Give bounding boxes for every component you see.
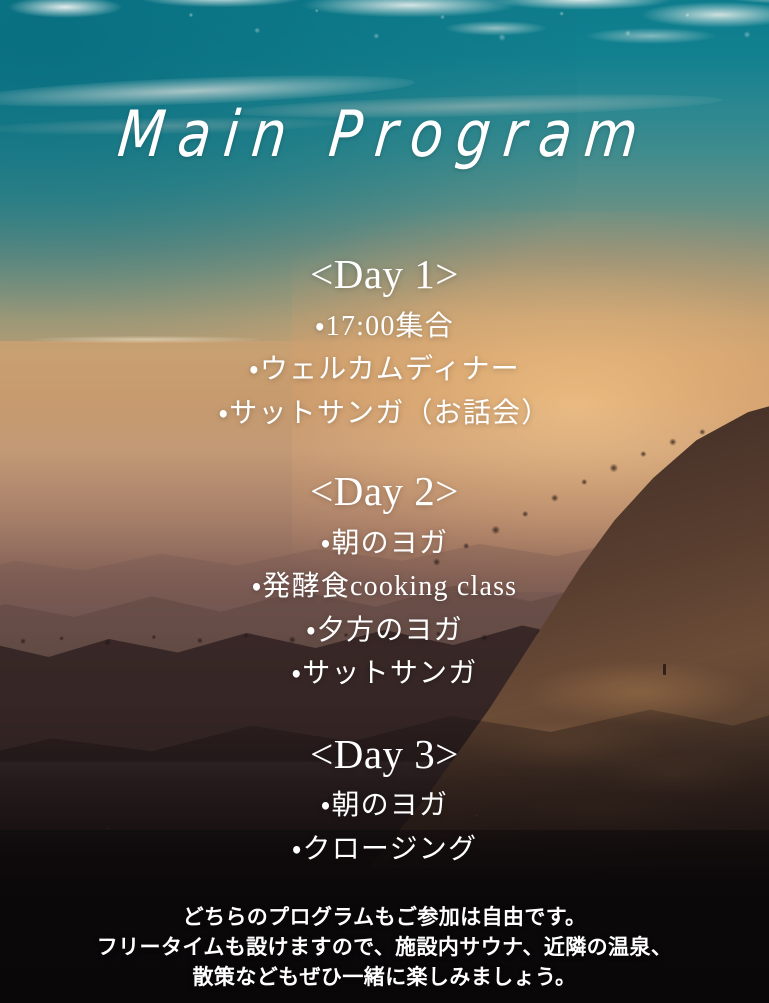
day-2-item-4: ・サットサンガ (0, 652, 769, 695)
day-3-item-2: ・クロージング (0, 828, 769, 871)
day-block-1: <Day 1> ・17:00集合 ・ウェルカムディナー ・サットサンガ（お話会） (0, 252, 769, 435)
day-2-item-3: ・夕方のヨガ (0, 609, 769, 652)
footer-line-3: 散策などもぜひ一緒に楽しみましょう。 (0, 963, 769, 993)
poster-content: Main Program <Day 1> ・17:00集合 ・ウェルカムディナー… (0, 0, 769, 1003)
day-2-item-1: ・朝のヨガ (0, 522, 769, 565)
footer-line-2: フリータイムも設けますので、施設内サウナ、近隣の温泉、 (0, 933, 769, 963)
footer-line-1: どちらのプログラムもご参加は自由です。 (0, 903, 769, 933)
footer-note: どちらのプログラムもご参加は自由です。 フリータイムも設けますので、施設内サウナ… (0, 903, 769, 992)
day-2-heading: <Day 2> (0, 469, 769, 515)
day-block-2: <Day 2> ・朝のヨガ ・発酵食cooking class ・夕方のヨガ ・… (0, 469, 769, 695)
day-1-item-2: ・ウェルカムディナー (0, 348, 769, 391)
day-1-item-3: ・サットサンガ（お話会） (0, 392, 769, 435)
day-1-items: ・17:00集合 ・ウェルカムディナー ・サットサンガ（お話会） (0, 305, 769, 435)
day-1-heading: <Day 1> (0, 252, 769, 298)
day-2-item-2: ・発酵食cooking class (0, 565, 769, 608)
page-title: Main Program (0, 103, 769, 167)
day-block-3: <Day 3> ・朝のヨガ ・クロージング (0, 732, 769, 872)
day-1-item-1: ・17:00集合 (0, 305, 769, 348)
program-schedule: <Day 1> ・17:00集合 ・ウェルカムディナー ・サットサンガ（お話会）… (0, 252, 769, 871)
program-poster: Main Program <Day 1> ・17:00集合 ・ウェルカムディナー… (0, 0, 769, 1003)
day-3-item-1: ・朝のヨガ (0, 784, 769, 827)
day-3-heading: <Day 3> (0, 732, 769, 778)
day-3-items: ・朝のヨガ ・クロージング (0, 784, 769, 871)
day-2-items: ・朝のヨガ ・発酵食cooking class ・夕方のヨガ ・サットサンガ (0, 522, 769, 696)
